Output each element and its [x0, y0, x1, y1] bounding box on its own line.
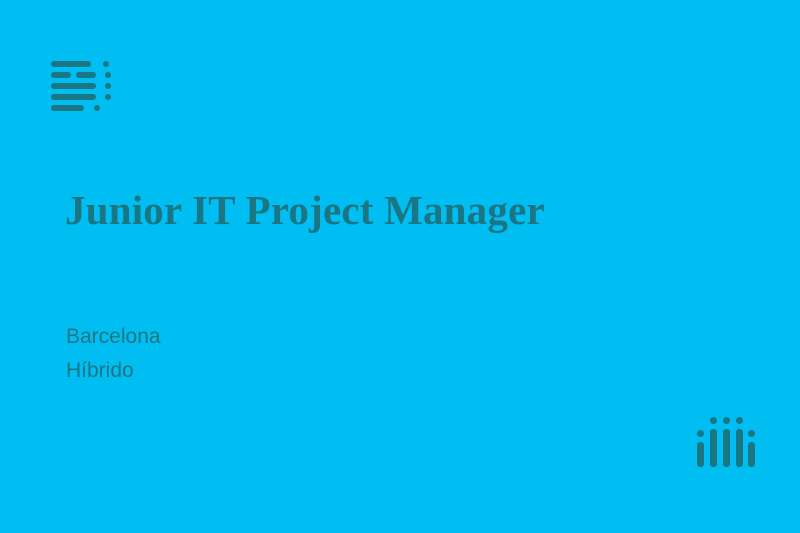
equalizer-bar-5 [748, 442, 755, 467]
job-location: Barcelona [66, 320, 161, 354]
equalizer-bar-4 [736, 429, 743, 467]
logo-dot-row5 [94, 105, 100, 111]
equalizer-bar-2 [710, 429, 717, 467]
logo-bar-row2-left [51, 72, 71, 78]
page-title: Junior IT Project Manager [65, 186, 545, 234]
logo-dot-row2 [105, 72, 111, 78]
logo-bar-row4 [51, 94, 96, 100]
equalizer-logo-icon [697, 415, 755, 467]
list-lines-logo-icon [51, 61, 111, 113]
equalizer-dot-1 [697, 430, 704, 437]
logo-bar-row5 [51, 105, 84, 111]
logo-dot-row1 [103, 61, 109, 67]
logo-bar-row3 [51, 83, 96, 89]
logo-bar-row1 [51, 61, 91, 67]
equalizer-dot-2 [710, 417, 717, 424]
equalizer-bar-3 [723, 429, 730, 467]
equalizer-bar-1 [697, 442, 704, 467]
logo-dot-row4 [105, 94, 111, 100]
job-posting-slide: Junior IT Project Manager Barcelona Híbr… [0, 0, 800, 533]
logo-bar-row2-right [76, 72, 96, 78]
job-meta: Barcelona Híbrido [66, 320, 161, 388]
equalizer-dot-5 [748, 430, 755, 437]
job-work-model: Híbrido [66, 354, 161, 388]
equalizer-dot-4 [736, 417, 743, 424]
logo-dot-row3 [105, 83, 111, 89]
equalizer-dot-3 [723, 417, 730, 424]
